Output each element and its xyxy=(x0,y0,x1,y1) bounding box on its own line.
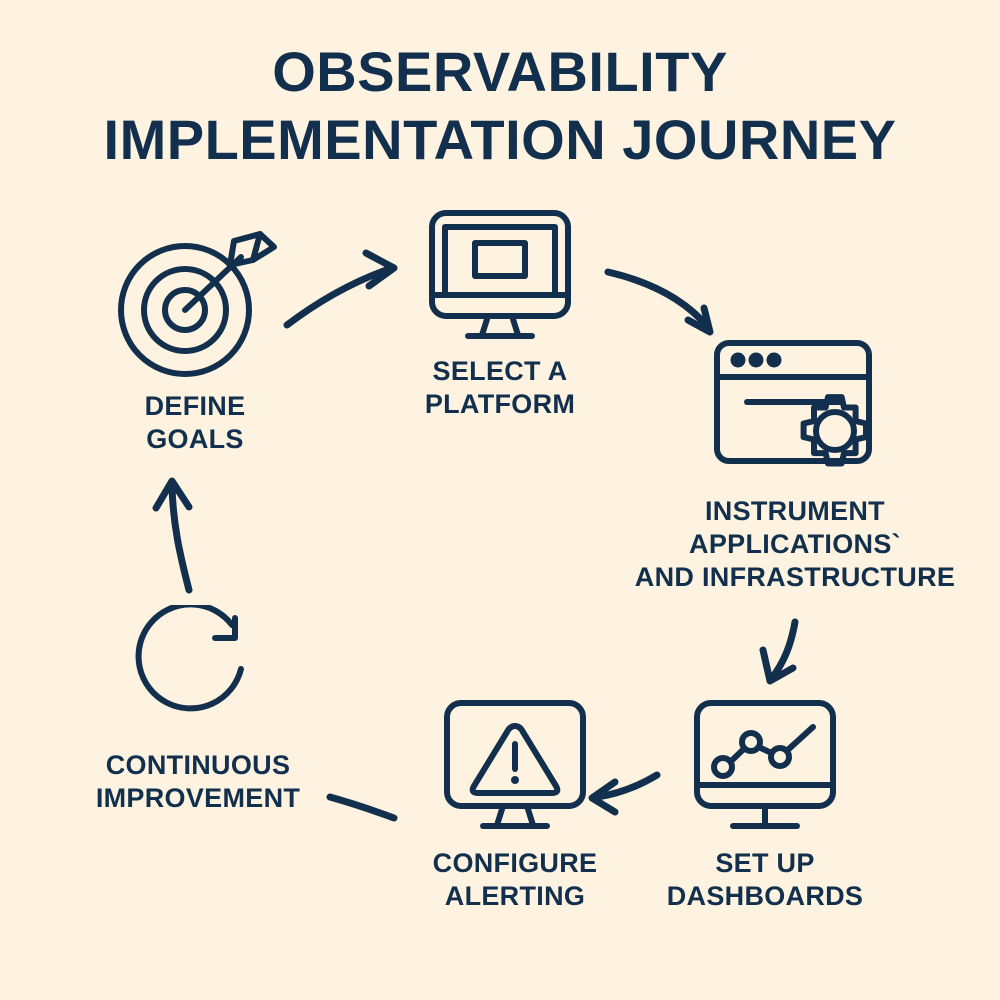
step-label-configure-alerting: CONFIGURE ALERTING xyxy=(433,847,598,913)
page-title-line-1: OBSERVABILITY xyxy=(0,38,1000,106)
step-label-instrument-applications: INSTRUMENT APPLICATIONS` AND INFRASTRUCT… xyxy=(635,495,955,594)
monitor-warning-triangle-icon xyxy=(435,695,595,835)
desktop-monitor-icon xyxy=(420,205,580,345)
step-label-define-goals: DEFINE GOALS xyxy=(145,390,246,456)
connector-continuous-to-goals xyxy=(156,481,189,590)
step-define-goals[interactable]: DEFINE GOALS xyxy=(60,222,330,456)
infographic-canvas: OBSERVABILITY IMPLEMENTATION JOURNEY xyxy=(0,0,1000,1000)
step-configure-alerting[interactable]: CONFIGURE ALERTING xyxy=(405,695,625,913)
browser-window-gear-icon xyxy=(705,333,885,483)
step-label-set-up-dashboards: SET UP DASHBOARDS xyxy=(667,847,864,913)
step-label-select-platform: SELECT A PLATFORM xyxy=(425,355,575,421)
monitor-line-chart-icon xyxy=(685,695,845,835)
connector-instrument-to-dashboards xyxy=(763,622,795,681)
page-title-line-2: IMPLEMENTATION JOURNEY xyxy=(0,106,1000,174)
step-select-platform[interactable]: SELECT A PLATFORM xyxy=(380,205,620,421)
page-title: OBSERVABILITY IMPLEMENTATION JOURNEY xyxy=(0,38,1000,174)
target-arrow-icon xyxy=(113,222,278,382)
circular-refresh-arrow-icon xyxy=(128,605,268,735)
step-continuous-improvement[interactable]: CONTINUOUS IMPROVEMENT xyxy=(48,605,348,815)
step-instrument-applications[interactable]: INSTRUMENT APPLICATIONS` AND INFRASTRUCT… xyxy=(595,333,995,594)
connector-platform-to-instrument xyxy=(608,272,710,332)
step-label-continuous-improvement: CONTINUOUS IMPROVEMENT xyxy=(96,749,300,815)
step-set-up-dashboards[interactable]: SET UP DASHBOARDS xyxy=(655,695,875,913)
